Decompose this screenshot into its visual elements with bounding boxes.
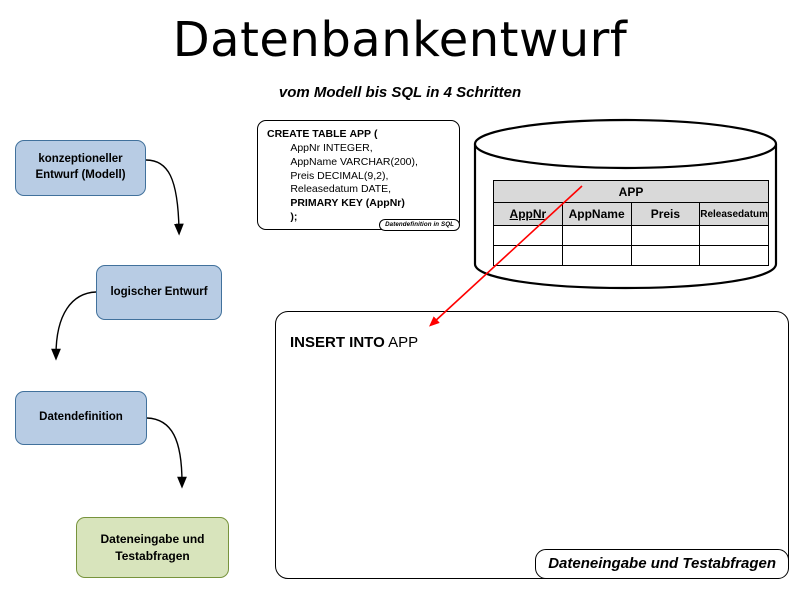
table-title-row: APP [494,181,769,203]
sql-line-preis: Preis DECIMAL(9,2), [267,170,418,184]
flow-step-dateneingabe-testabfragen[interactable]: Dateneingabe undTestabfragen [76,517,229,578]
table-cell[interactable] [631,246,700,266]
sql-card-tag-label: Datendefinition in SQL [379,219,460,231]
insert-panel-tag-label: Dateneingabe und Testabfragen [535,549,789,579]
insert-target: APP [385,334,418,351]
sql-line-appnr: AppNr INTEGER, [267,142,418,156]
flow-step-konzeptioneller-entwurf[interactable]: konzeptionellerEntwurf (Modell) [15,140,146,196]
sql-line-primary-key: PRIMARY KEY (AppNr) [267,197,418,211]
page-subtitle: vom Modell bis SQL in 4 Schritten [0,84,800,101]
connector-logisch-to-datendef [56,292,96,355]
sql-code-text: CREATE TABLE APP ( AppNr INTEGER, AppNam… [267,128,418,225]
flow-step-logischer-entwurf[interactable]: logischer Entwurf [96,265,222,320]
sql-definition-card[interactable]: CREATE TABLE APP ( AppNr INTEGER, AppNam… [257,120,460,230]
column-header-preis: Preis [631,203,700,226]
table-cell[interactable] [562,226,631,246]
insert-keyword: INSERT INTO [290,334,385,351]
sql-line-releasedatum: Releasedatum DATE, [267,183,418,197]
table-row[interactable] [494,226,769,246]
table-cell[interactable] [631,226,700,246]
flow-step-label: Dateneingabe undTestabfragen [100,531,204,563]
flow-step-label: Datendefinition [39,410,123,426]
sql-line-create: CREATE TABLE APP ( [267,128,418,142]
flow-step-datendefinition[interactable]: Datendefinition [15,391,147,445]
table-cell[interactable] [562,246,631,266]
table-cell[interactable] [494,226,563,246]
insert-statement-panel[interactable]: INSERT INTO APP Dateneingabe und Testabf… [275,311,789,579]
column-header-appname: AppName [562,203,631,226]
flow-step-label: logischer Entwurf [110,285,207,301]
column-header-releasedatum: Releasedatum [700,203,769,226]
flow-step-label: konzeptionellerEntwurf (Modell) [35,152,125,183]
table-title-cell: APP [494,181,769,203]
table-cell[interactable] [494,246,563,266]
connector-datendef-to-eingabe [147,418,182,483]
table-cell[interactable] [700,246,769,266]
database-table[interactable]: APP AppNr AppName Preis Releasedatum [493,180,769,266]
table-row[interactable] [494,246,769,266]
table-header-row: AppNr AppName Preis Releasedatum [494,203,769,226]
connector-konzept-to-logisch [146,160,179,230]
table-cell[interactable] [700,226,769,246]
column-header-appnr: AppNr [494,203,563,226]
sql-line-appname: AppName VARCHAR(200), [267,156,418,170]
insert-statement-text: INSERT INTO APP [290,334,418,351]
slide-canvas: Datenbankentwurf vom Modell bis SQL in 4… [0,0,800,600]
page-title: Datenbankentwurf [0,14,800,67]
